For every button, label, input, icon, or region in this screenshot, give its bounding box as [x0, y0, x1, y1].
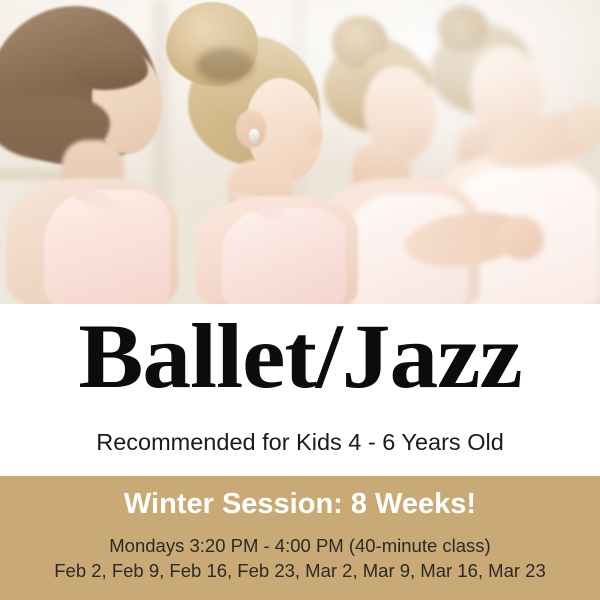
dancer-4-bun: [438, 6, 488, 52]
session-heading: Winter Session: 8 Weeks!: [0, 488, 600, 521]
dancer-2-bun-shadow: [196, 48, 254, 82]
dancer-3-hand: [498, 216, 544, 260]
session-dates-line: Feb 2, Feb 9, Feb 16, Feb 23, Mar 2, Mar…: [0, 559, 600, 582]
dancer-2-nose: [300, 124, 322, 146]
session-info-band: Winter Session: 8 Weeks! Mondays 3:20 PM…: [0, 476, 600, 600]
session-time-line: Mondays 3:20 PM - 4:00 PM (40-minute cla…: [0, 534, 600, 557]
ballet-jazz-class-flyer: Ballet/Jazz Recommended for Kids 4 - 6 Y…: [0, 0, 600, 600]
age-recommendation-subtitle: Recommended for Kids 4 - 6 Years Old: [0, 428, 600, 456]
page-title: Ballet/Jazz: [0, 310, 600, 402]
ballet-class-photo: [0, 0, 600, 304]
title-band: Ballet/Jazz Recommended for Kids 4 - 6 Y…: [0, 304, 600, 476]
dancer-2-earring: [249, 129, 259, 143]
ballet-barre: [0, 164, 70, 180]
